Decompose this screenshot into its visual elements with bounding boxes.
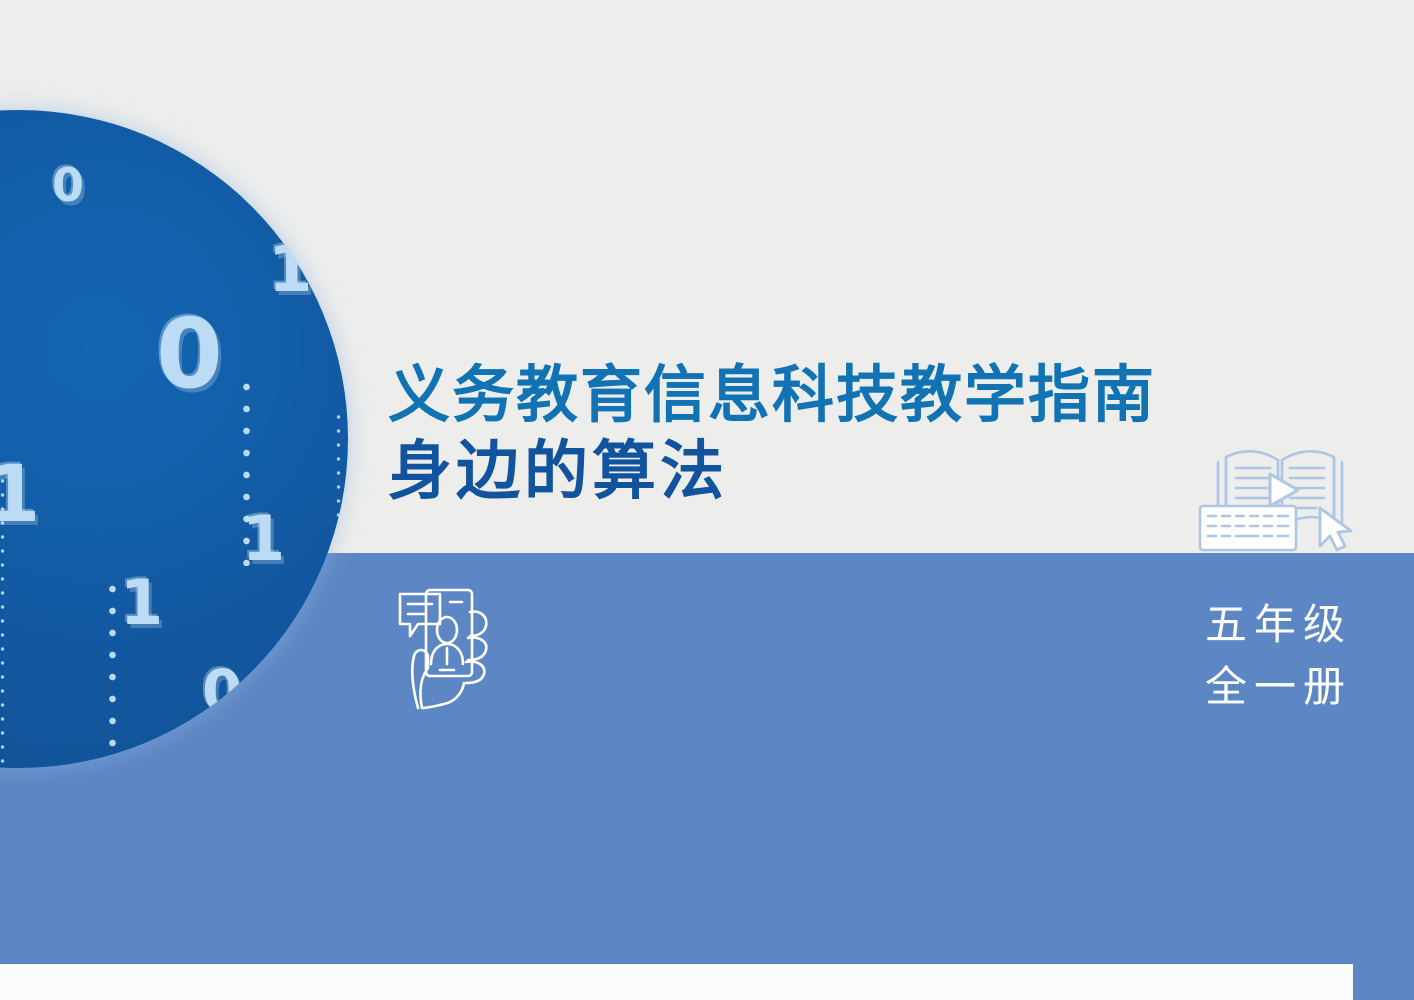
binary-digit: 1 (0, 456, 40, 534)
page-subtitle: 身边的算法 (388, 435, 1218, 511)
binary-digit: 1 (120, 572, 163, 634)
binary-digit: 1 (268, 238, 313, 302)
dot-column (108, 578, 117, 768)
grade-line-1: 五年级 (1198, 594, 1352, 656)
binary-digit: 0 (156, 306, 223, 402)
grade-line-2: 全一册 (1198, 656, 1352, 718)
binary-digit: 1 (242, 508, 285, 570)
binary-digit: 0 (202, 662, 242, 720)
binary-digit: 0 (52, 162, 84, 208)
dot-column (336, 410, 341, 680)
hand-holding-phone-icon (392, 582, 504, 708)
page-title: 义务教育信息科技教学指南 (388, 362, 1218, 427)
grade-label: 五年级 全一册 (1198, 594, 1352, 718)
book-keyboard-cursor-icon (1196, 444, 1364, 556)
title-block: 义务教育信息科技教学指南 身边的算法 (388, 362, 1218, 511)
footer-strip (0, 964, 1353, 1000)
slide-canvas: 0 1 0 1 1 1 0 义务教育信息科技教学指南 身边的算法 五年级 全一册 (0, 0, 1414, 1000)
